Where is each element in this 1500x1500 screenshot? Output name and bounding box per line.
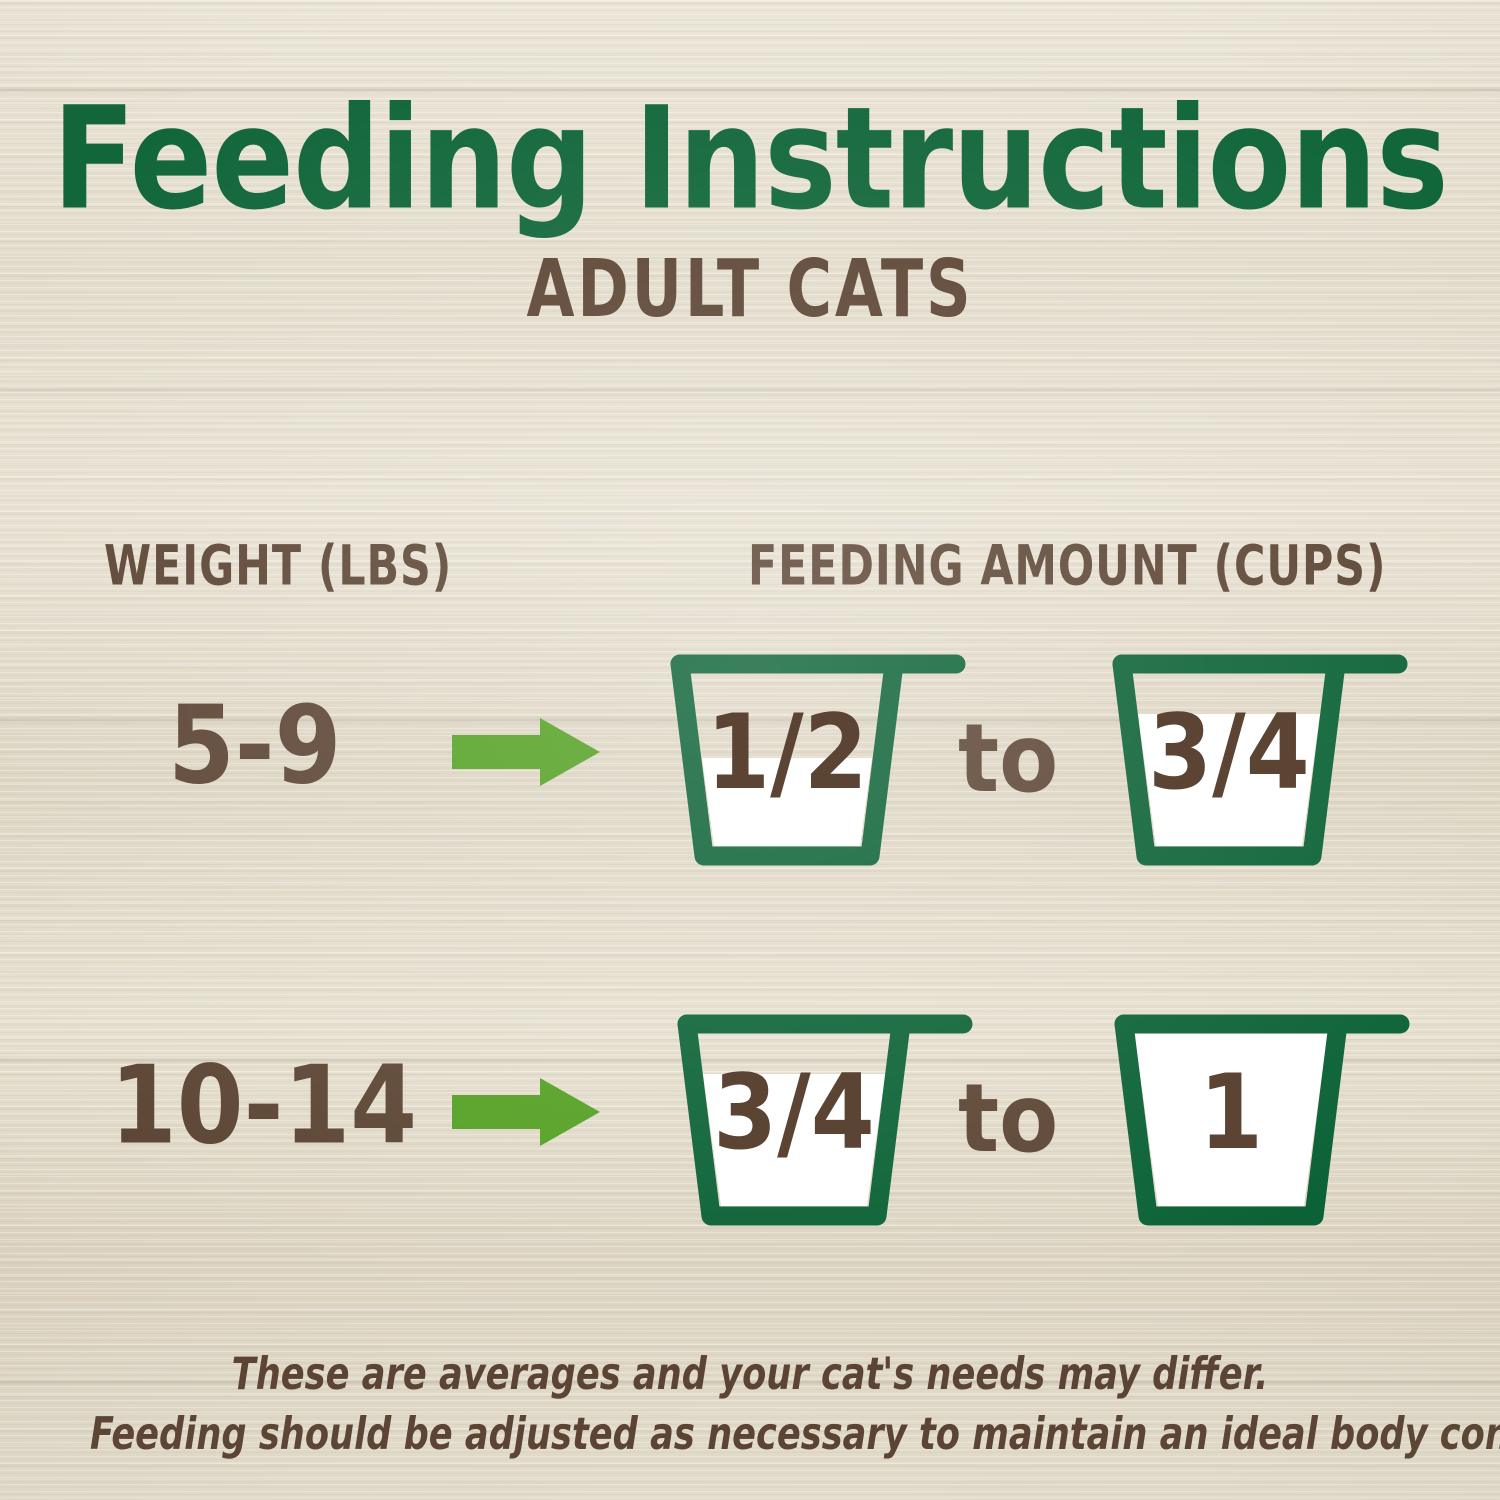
- weight-range-value: 10-14: [110, 1052, 417, 1160]
- arrow-shaft: [452, 1095, 548, 1129]
- column-header-feeding-amount: FEEDING AMOUNT (CUPS): [748, 538, 1386, 593]
- amount-value: 1/2: [648, 702, 926, 805]
- page-title: Feeding Instructions: [0, 88, 1500, 230]
- footer-note-line-2: Feeding should be adjusted as necessary …: [90, 1412, 1410, 1457]
- amount-value: 3/4: [1090, 702, 1368, 805]
- measuring-cup-max: 1: [1092, 1000, 1410, 1238]
- measuring-cup-min: 3/4: [655, 1000, 973, 1238]
- column-header-weight: WEIGHT (LBS): [104, 538, 452, 593]
- range-separator-label: to: [958, 712, 1058, 807]
- right-arrow-icon: [452, 1078, 600, 1146]
- arrow-shaft: [452, 735, 548, 769]
- measuring-cup-max: 3/4: [1090, 640, 1408, 878]
- table-row: 10-14 3/4 to: [0, 1000, 1500, 1250]
- page-subtitle: ADULT CATS: [45, 250, 1455, 329]
- arrow-head: [540, 718, 600, 786]
- right-arrow-icon: [452, 718, 600, 786]
- arrow-head: [540, 1078, 600, 1146]
- weight-range-value: 5-9: [168, 692, 341, 800]
- table-row: 5-9: [0, 640, 1500, 890]
- footer-note-line-1: These are averages and your cat's needs …: [90, 1352, 1410, 1397]
- measuring-cup-min: 1/2: [648, 640, 966, 878]
- amount-value: 1: [1092, 1062, 1370, 1165]
- range-separator-label: to: [958, 1072, 1058, 1167]
- amount-value: 3/4: [655, 1062, 933, 1165]
- feeding-instructions-poster: Feeding Instructions ADULT CATS WEIGHT (…: [0, 0, 1500, 1500]
